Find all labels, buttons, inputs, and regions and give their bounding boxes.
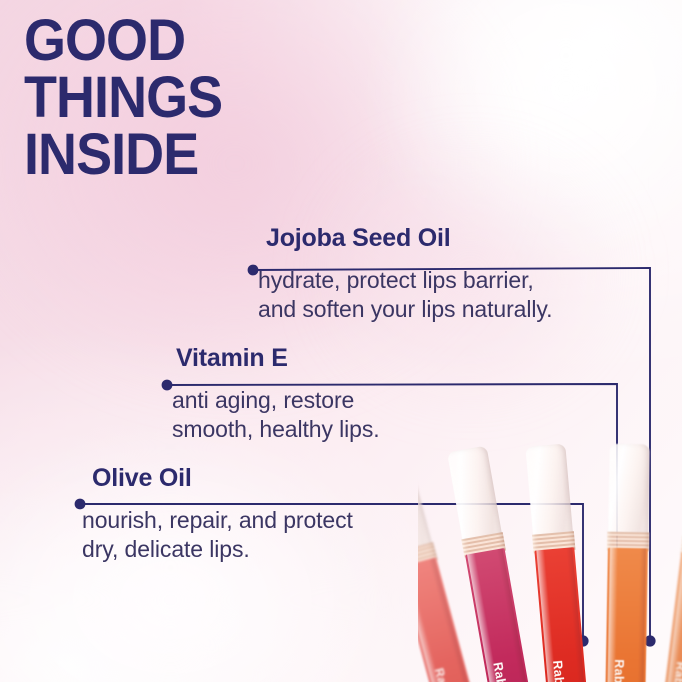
ingredient-name: Vitamin E [176,344,380,372]
ingredient-description: nourish, repair, and protect dry, delica… [82,506,353,564]
ingredient-block-jojoba-seed-oil: Jojoba Seed Oil hydrate, protect lips ba… [266,224,552,324]
ingredient-name: Jojoba Seed Oil [266,224,552,252]
infographic-canvas: Rabbit HabitRabbit HabitRabbit HabitRabb… [0,0,682,682]
ingredient-description: hydrate, protect lips barrier, and softe… [258,266,552,324]
page-title: GOOD THINGS INSIDE [24,12,222,183]
ingredient-block-olive-oil: Olive Oil nourish, repair, and protect d… [92,464,353,564]
ingredient-block-vitamin-e: Vitamin E anti aging, restore smooth, he… [176,344,380,444]
ingredient-name: Olive Oil [92,464,353,492]
ingredient-description: anti aging, restore smooth, healthy lips… [172,386,380,444]
